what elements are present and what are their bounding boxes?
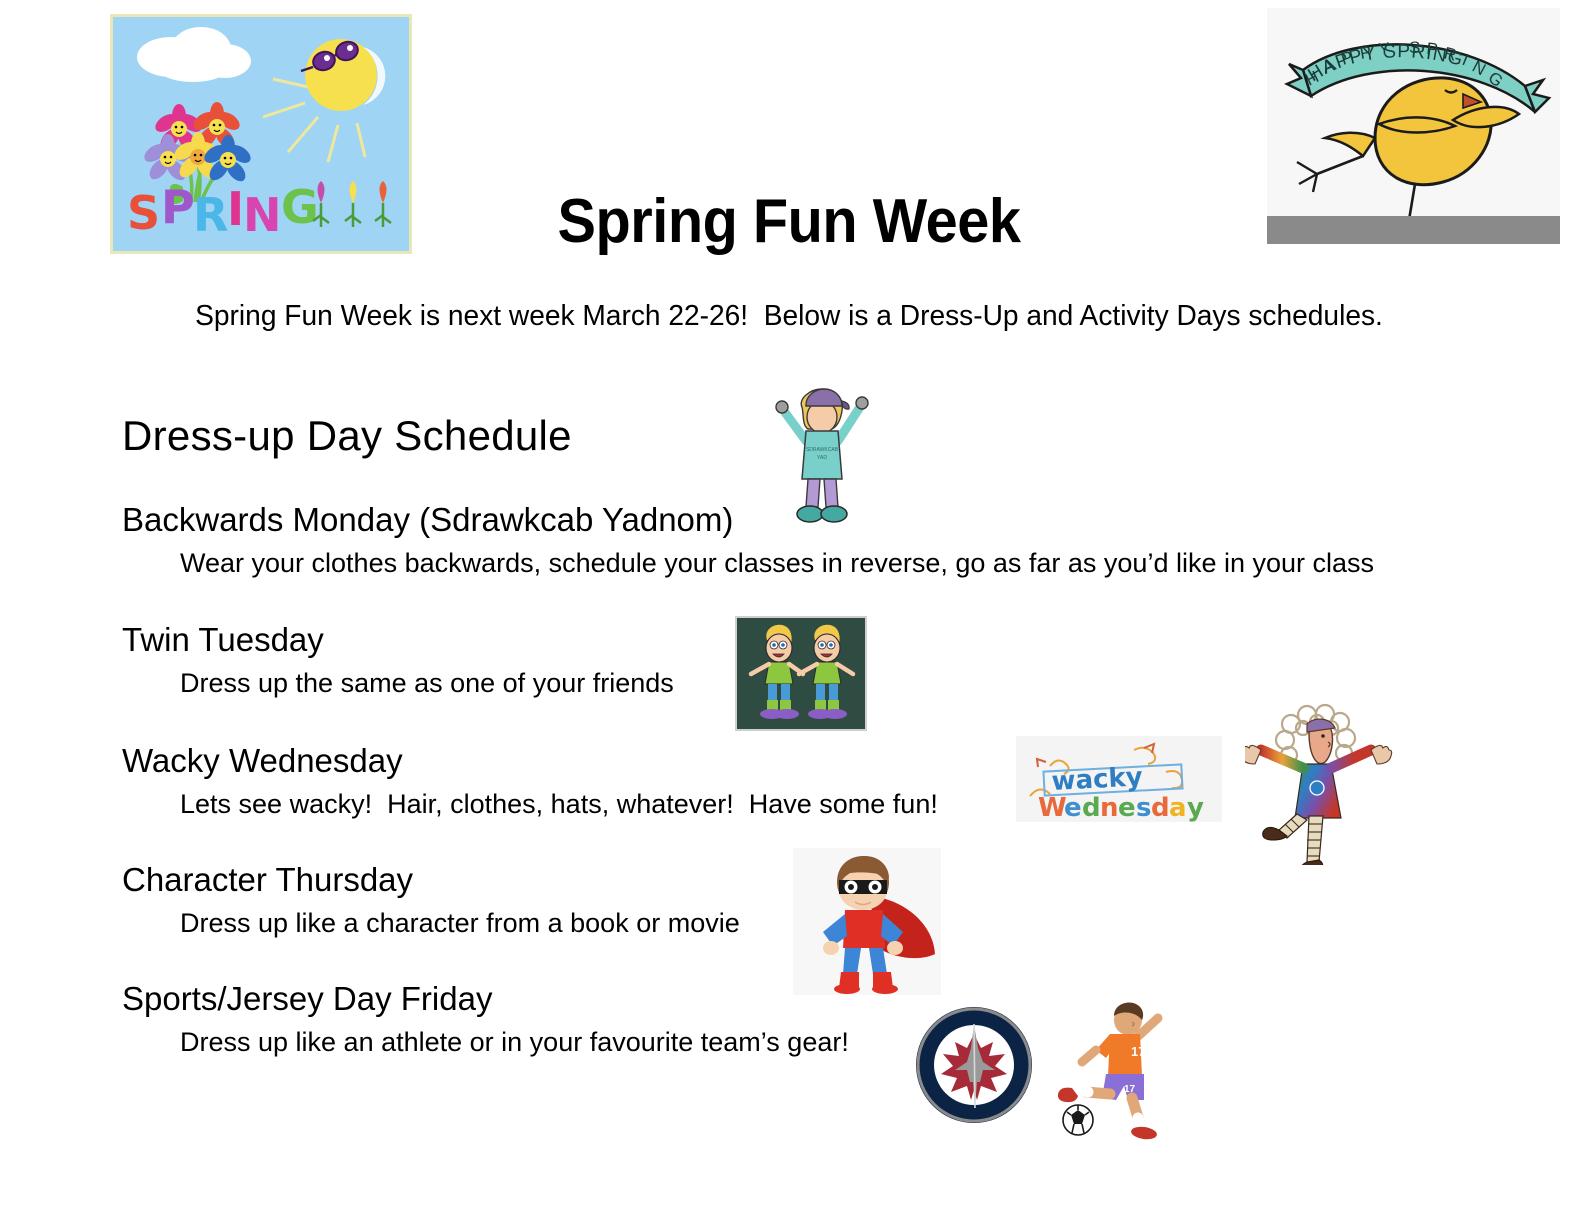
day-entry-thursday: Character Thursday Dress up like a chara… — [122, 862, 740, 938]
jersey-number: 17 — [1131, 1044, 1145, 1059]
svg-text:S: S — [1409, 38, 1420, 57]
day-title-wednesday: Wacky Wednesday — [122, 743, 938, 779]
svg-text:d: d — [1082, 793, 1101, 822]
wacky-wednesday-logo-image: wacky W e d n e s d a y — [1016, 736, 1222, 822]
svg-text:P: P — [1426, 39, 1439, 59]
superhero-character-image — [793, 848, 941, 995]
backwards-kid-image: SDRAWKCAB YAD — [762, 383, 880, 527]
svg-text:wacky: wacky — [1051, 762, 1144, 797]
day-title-monday: Backwards Monday (Sdrawkcab Yadnom) — [122, 502, 1374, 538]
intro-paragraph: Spring Fun Week is next week March 22-26… — [24, 300, 1555, 333]
soccer-player-image: 17 17 — [1036, 1000, 1171, 1140]
flyer-page: S P R I N G HAPPY — [0, 0, 1578, 1220]
day-entry-wednesday: Wacky Wednesday Lets see wacky! Hair, cl… — [122, 743, 938, 819]
jets-team-logo-image — [913, 1004, 1035, 1126]
day-description-monday: Wear your clothes backwards, schedule yo… — [180, 549, 1374, 579]
day-entry-tuesday: Twin Tuesday Dress up the same as one of… — [122, 622, 674, 698]
wednesday-word: W e d n e s d a y — [1038, 793, 1204, 822]
day-title-friday: Sports/Jersey Day Friday — [122, 981, 849, 1017]
svg-text:W: W — [1038, 793, 1067, 822]
svg-text:y: y — [1187, 793, 1204, 822]
day-title-tuesday: Twin Tuesday — [122, 622, 674, 658]
svg-text:e: e — [1118, 793, 1136, 822]
dressup-schedule-heading: Dress-up Day Schedule — [122, 412, 572, 460]
soccer-ball-shape — [1063, 1105, 1093, 1135]
wacky-word: wacky — [1051, 762, 1144, 797]
wacky-dressed-person-image — [1245, 702, 1395, 865]
svg-text:Y: Y — [1378, 39, 1391, 59]
day-title-thursday: Character Thursday — [122, 862, 740, 898]
svg-text:YAD: YAD — [817, 455, 827, 461]
svg-text:e: e — [1064, 793, 1082, 822]
day-description-friday: Dress up like an athlete or in your favo… — [180, 1028, 849, 1058]
svg-text:n: n — [1100, 793, 1119, 822]
day-description-wednesday: Lets see wacky! Hair, clothes, hats, wha… — [180, 790, 938, 820]
day-description-thursday: Dress up like a character from a book or… — [180, 909, 740, 939]
svg-text:a: a — [1169, 793, 1187, 822]
svg-text:d: d — [1151, 793, 1170, 822]
svg-text:SDRAWKCAB: SDRAWKCAB — [806, 447, 839, 453]
day-entry-friday: Sports/Jersey Day Friday Dress up like a… — [122, 981, 849, 1057]
twins-image — [735, 616, 867, 731]
page-title: Spring Fun Week — [55, 186, 1523, 257]
svg-text:s: s — [1136, 793, 1151, 822]
day-description-tuesday: Dress up the same as one of your friends — [180, 669, 674, 699]
day-entry-monday: Backwards Monday (Sdrawkcab Yadnom) Wear… — [122, 502, 1374, 578]
